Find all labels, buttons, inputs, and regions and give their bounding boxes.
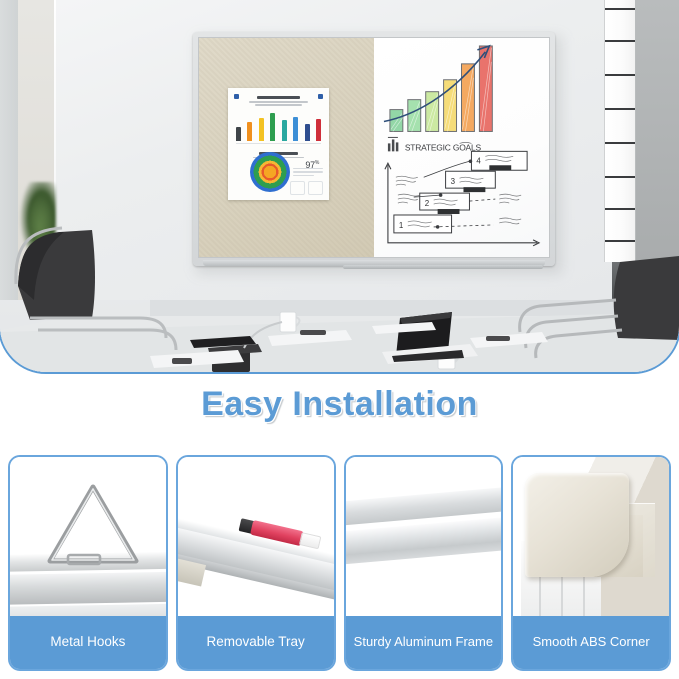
metal-hooks-photo <box>10 457 166 616</box>
svg-text:2: 2 <box>425 199 430 208</box>
dry-erase-panel: STRATEGIC GOALS <box>374 38 549 257</box>
card-caption-metal-hooks: Metal Hooks <box>10 616 166 669</box>
poster-pin-left <box>234 94 239 99</box>
card-abs-corner[interactable]: Smooth ABS Corner <box>511 455 671 671</box>
card-caption-removable-tray: Removable Tray <box>178 616 334 669</box>
poster-stat-description <box>293 168 323 179</box>
card-caption-aluminum-frame: Sturdy Aluminum Frame <box>346 616 502 669</box>
poster-metric-boxes <box>290 181 323 195</box>
strategic-goals-heading: STRATEGIC GOALS <box>388 137 482 152</box>
section-heading: Easy Installation <box>0 385 679 424</box>
svg-text:4: 4 <box>476 156 481 165</box>
removable-tray-photo <box>178 457 334 616</box>
triangle-hook-icon <box>10 457 166 587</box>
poster-subtitle-bar-2 <box>255 104 302 106</box>
abs-corner-photo <box>513 457 669 616</box>
hero-photo: STRATEGIC GOALS <box>0 0 679 372</box>
svg-text:STRATEGIC GOALS: STRATEGIC GOALS <box>405 142 482 152</box>
poster-title-bar <box>257 96 300 99</box>
page-title: Easy Installation <box>201 385 478 424</box>
poster-bar-chart <box>236 111 321 141</box>
card-aluminum-frame[interactable]: Sturdy Aluminum Frame <box>344 455 504 671</box>
whiteboard-drawing: STRATEGIC GOALS <box>374 38 549 257</box>
whiteboard-marker-tray-extension <box>343 265 543 269</box>
svg-text:3: 3 <box>451 177 456 186</box>
card-removable-tray[interactable]: Removable Tray <box>176 455 336 671</box>
poster-chart-axis <box>236 143 321 144</box>
svg-text:1: 1 <box>399 221 404 230</box>
poster-donut-chart <box>250 152 290 192</box>
poster-subtitle-bar <box>249 101 309 103</box>
feature-card-list: Metal Hooks Removable Tray Sturdy Alumin… <box>8 455 671 671</box>
aluminum-frame-photo <box>346 457 502 616</box>
card-caption-abs-corner: Smooth ABS Corner <box>513 616 669 669</box>
card-metal-hooks[interactable]: Metal Hooks <box>8 455 168 671</box>
pinned-infographic-poster: 97% <box>228 88 329 200</box>
poster-pin-right <box>318 94 323 99</box>
abs-corner-cap <box>525 473 629 577</box>
